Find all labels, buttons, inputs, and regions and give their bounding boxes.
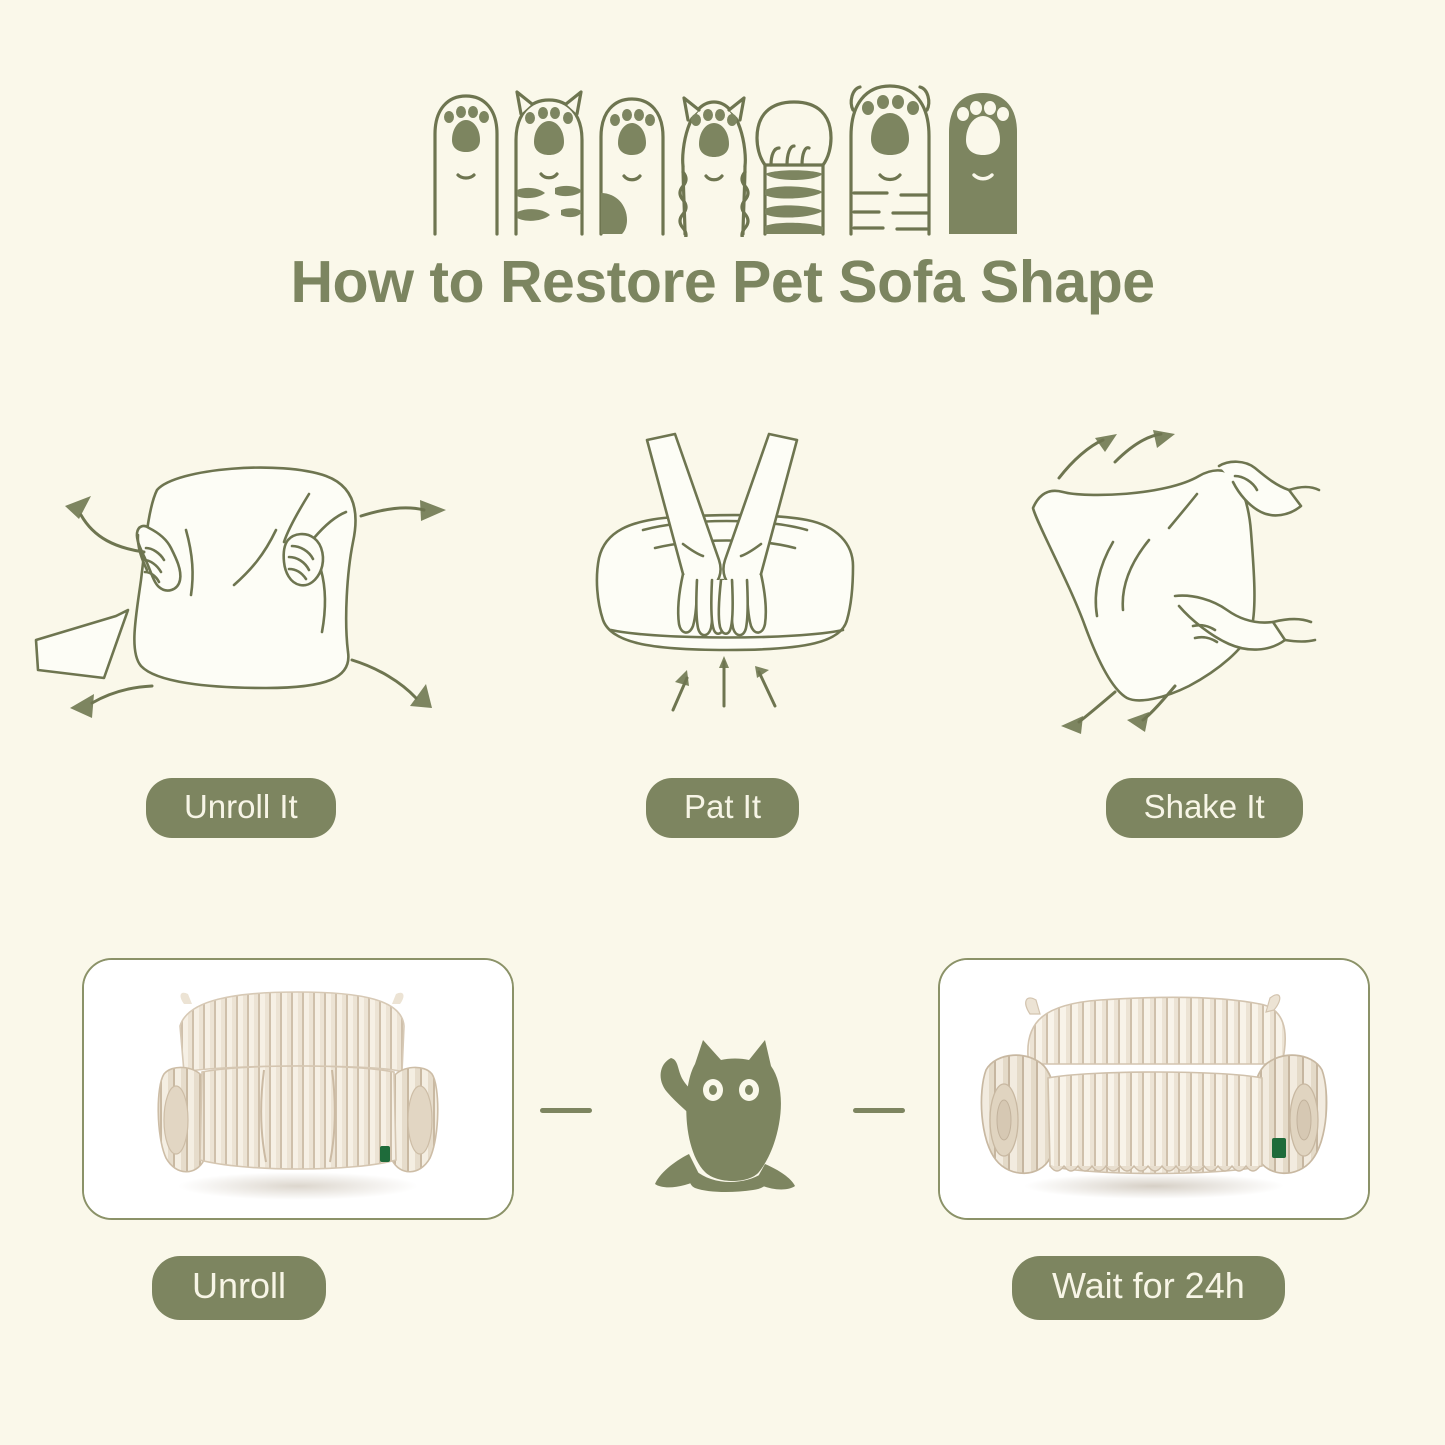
paw-header-row bbox=[0, 62, 1445, 237]
arrow-shake-down-2 bbox=[1127, 712, 1149, 732]
arrow-down-left bbox=[70, 694, 94, 718]
step-unroll-illustration bbox=[26, 415, 456, 755]
page-title: How to Restore Pet Sofa Shape bbox=[0, 248, 1445, 316]
dash-separator-left bbox=[540, 1108, 592, 1113]
paw-solid-icon bbox=[949, 93, 1017, 234]
step-pat-illustration bbox=[507, 415, 937, 755]
infographic-page: How to Restore Pet Sofa Shape bbox=[0, 0, 1445, 1445]
arrow-shake-down-1 bbox=[1061, 716, 1083, 734]
paw-halfmoon-icon bbox=[601, 99, 663, 234]
pill-wrap-pat-it: Pat It bbox=[507, 778, 937, 838]
cat-silhouette-icon bbox=[633, 1018, 813, 1203]
step-label-unroll-it: Unroll It bbox=[146, 778, 336, 838]
step-labels-row: Unroll It Pat It Shake It bbox=[0, 782, 1445, 834]
pill-wrap-shake-it: Shake It bbox=[989, 778, 1419, 838]
pill-wrap-unroll-it: Unroll It bbox=[26, 778, 456, 838]
step-label-shake-it: Shake It bbox=[1106, 778, 1303, 838]
paw-wavy-icon bbox=[680, 98, 748, 237]
paw-dashed-icon bbox=[851, 86, 929, 234]
expanded-pet-sofa-photo bbox=[940, 960, 1368, 1218]
result-labels-row: Unroll Wait for 24h bbox=[0, 1256, 1445, 1312]
result-connector bbox=[540, 1015, 905, 1205]
paw-striped-icon bbox=[757, 102, 831, 234]
step-label-pat-it: Pat It bbox=[646, 778, 799, 838]
paw-plain-icon bbox=[435, 96, 497, 234]
dash-separator-right bbox=[853, 1108, 905, 1113]
step-shake-illustration bbox=[989, 415, 1419, 755]
steps-illustration-row bbox=[0, 415, 1445, 755]
result-label-unroll: Unroll bbox=[152, 1256, 326, 1320]
paw-spotted-icon bbox=[516, 92, 582, 234]
expanded-sofa-card bbox=[938, 958, 1370, 1220]
result-label-wait: Wait for 24h bbox=[1012, 1256, 1285, 1320]
compressed-pet-sofa-photo bbox=[84, 960, 512, 1218]
brand-tag bbox=[1272, 1138, 1286, 1158]
arrow-shake-up-2 bbox=[1153, 430, 1175, 448]
compressed-sofa-card bbox=[82, 958, 514, 1220]
brand-tag bbox=[380, 1146, 390, 1162]
arrow-up-left bbox=[65, 496, 91, 519]
